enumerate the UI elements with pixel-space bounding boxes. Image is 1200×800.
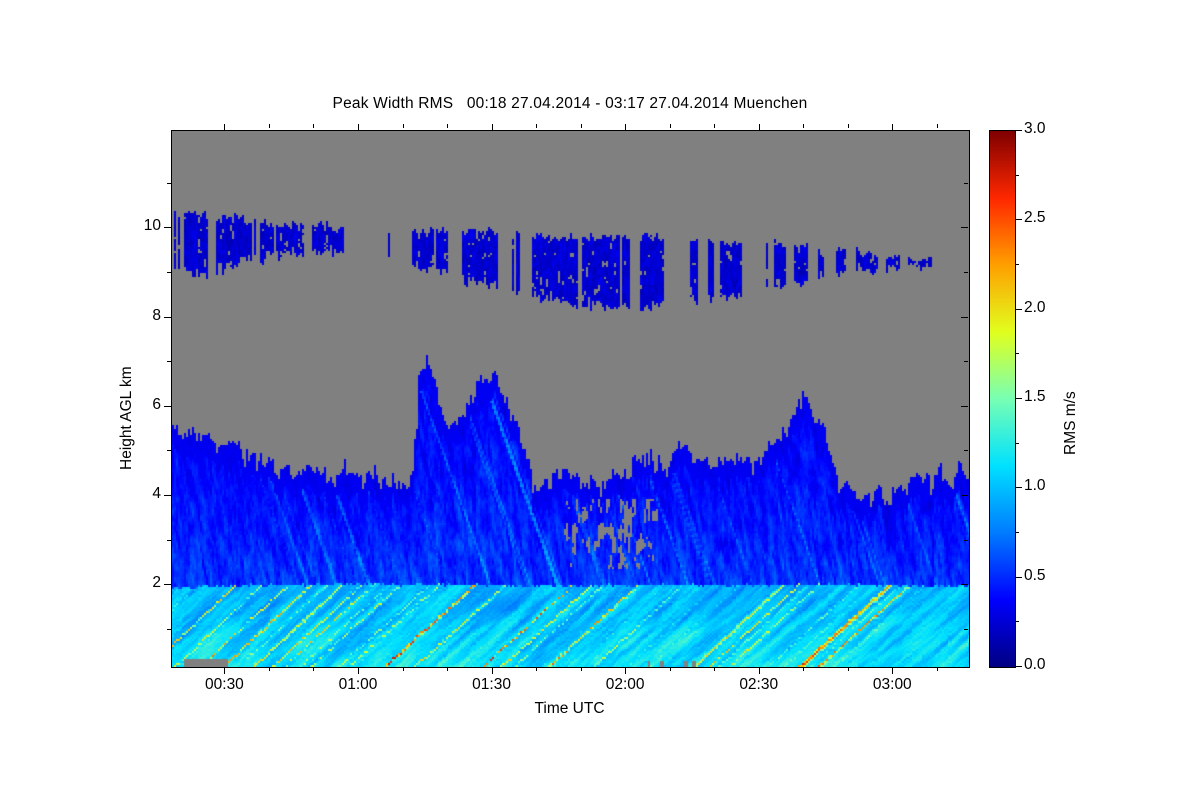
colorbar-tick-major [1016,219,1022,220]
x-tick-major [358,667,359,674]
y-tick-minor-right [964,450,968,451]
colorbar-canvas [990,131,1015,667]
colorbar-tick-label: 2.5 [1024,209,1046,227]
x-tick-major [759,667,760,674]
colorbar-tick-major [1016,130,1022,131]
y-tick-major [164,406,171,407]
y-tick-minor [167,361,171,362]
x-tick-major-top [759,124,760,131]
x-tick-minor-top [581,124,582,128]
y-tick-label: 6 [101,396,161,414]
x-tick-minor-top [848,124,849,128]
x-tick-minor [848,667,849,671]
x-tick-major-top [492,124,493,131]
x-tick-minor [670,667,671,671]
x-tick-minor [581,667,582,671]
colorbar-tick-minor [1016,443,1019,444]
colorbar-tick-label: 0.0 [1024,656,1046,674]
y-tick-label: 2 [101,574,161,592]
y-tick-label: 10 [101,217,161,235]
x-tick-minor-top [670,124,671,128]
y-tick-minor-right [964,183,968,184]
y-tick-minor [167,450,171,451]
y-tick-label: 4 [101,485,161,503]
heatmap-image [172,131,969,667]
y-tick-major [164,584,171,585]
y-tick-minor-right [964,629,968,630]
x-tick-minor-top [937,124,938,128]
heatmap-canvas [172,131,969,667]
colorbar-tick-minor [1016,353,1019,354]
colorbar-tick-major [1016,577,1022,578]
y-tick-minor-right [964,540,968,541]
x-tick-major-top [224,124,225,131]
y-tick-minor [167,183,171,184]
x-tick-label: 03:00 [852,676,932,694]
y-tick-major-right [961,495,968,496]
colorbar-tick-minor [1016,175,1019,176]
plot-area[interactable] [171,130,970,668]
colorbar-tick-major [1016,309,1022,310]
x-tick-minor [447,667,448,671]
y-tick-minor-right [964,361,968,362]
x-tick-major [492,667,493,674]
x-tick-minor [403,667,404,671]
x-tick-label: 01:00 [318,676,398,694]
x-tick-label: 01:30 [452,676,532,694]
colorbar-tick-minor [1016,264,1019,265]
x-tick-minor-top [714,124,715,128]
x-tick-major-top [358,124,359,131]
x-axis-label: Time UTC [171,700,968,718]
colorbar-tick-label: 3.0 [1024,120,1046,138]
x-tick-major [625,667,626,674]
x-tick-label: 00:30 [184,676,264,694]
y-tick-major-right [961,317,968,318]
x-tick-major [892,667,893,674]
x-tick-minor-top [403,124,404,128]
y-tick-minor-right [964,272,968,273]
x-tick-minor-top [803,124,804,128]
y-tick-major [164,317,171,318]
figure-canvas: Peak Width RMS 00:18 27.04.2014 - 03:17 … [0,0,1200,800]
x-tick-label: 02:30 [719,676,799,694]
y-tick-minor [167,540,171,541]
y-tick-minor [167,629,171,630]
x-tick-minor [937,667,938,671]
y-tick-major [164,227,171,228]
y-tick-major-right [961,406,968,407]
x-tick-minor [714,667,715,671]
colorbar-tick-minor [1016,621,1019,622]
colorbar[interactable] [989,130,1016,668]
colorbar-tick-major [1016,398,1022,399]
colorbar-tick-minor [1016,532,1019,533]
colorbar-tick-label: 0.5 [1024,567,1046,585]
x-tick-minor [313,667,314,671]
y-tick-major [164,495,171,496]
y-axis-label: Height AGL km [118,366,136,470]
x-tick-minor-top [536,124,537,128]
chart-title: Peak Width RMS 00:18 27.04.2014 - 03:17 … [0,95,1140,113]
x-tick-label: 02:00 [585,676,665,694]
colorbar-tick-label: 1.0 [1024,477,1046,495]
colorbar-tick-label: 2.0 [1024,299,1046,317]
x-tick-minor-top [313,124,314,128]
y-tick-major-right [961,584,968,585]
colorbar-tick-label: 1.5 [1024,388,1046,406]
colorbar-label: RMS m/s [1062,391,1080,455]
colorbar-tick-major [1016,666,1022,667]
y-tick-major-right [961,227,968,228]
x-tick-major-top [892,124,893,131]
colorbar-tick-major [1016,487,1022,488]
x-tick-minor [803,667,804,671]
x-tick-minor [269,667,270,671]
x-tick-minor-top [447,124,448,128]
y-tick-minor [167,272,171,273]
x-tick-minor [536,667,537,671]
x-tick-major [224,667,225,674]
y-tick-label: 8 [101,307,161,325]
x-tick-major-top [625,124,626,131]
x-tick-minor-top [269,124,270,128]
